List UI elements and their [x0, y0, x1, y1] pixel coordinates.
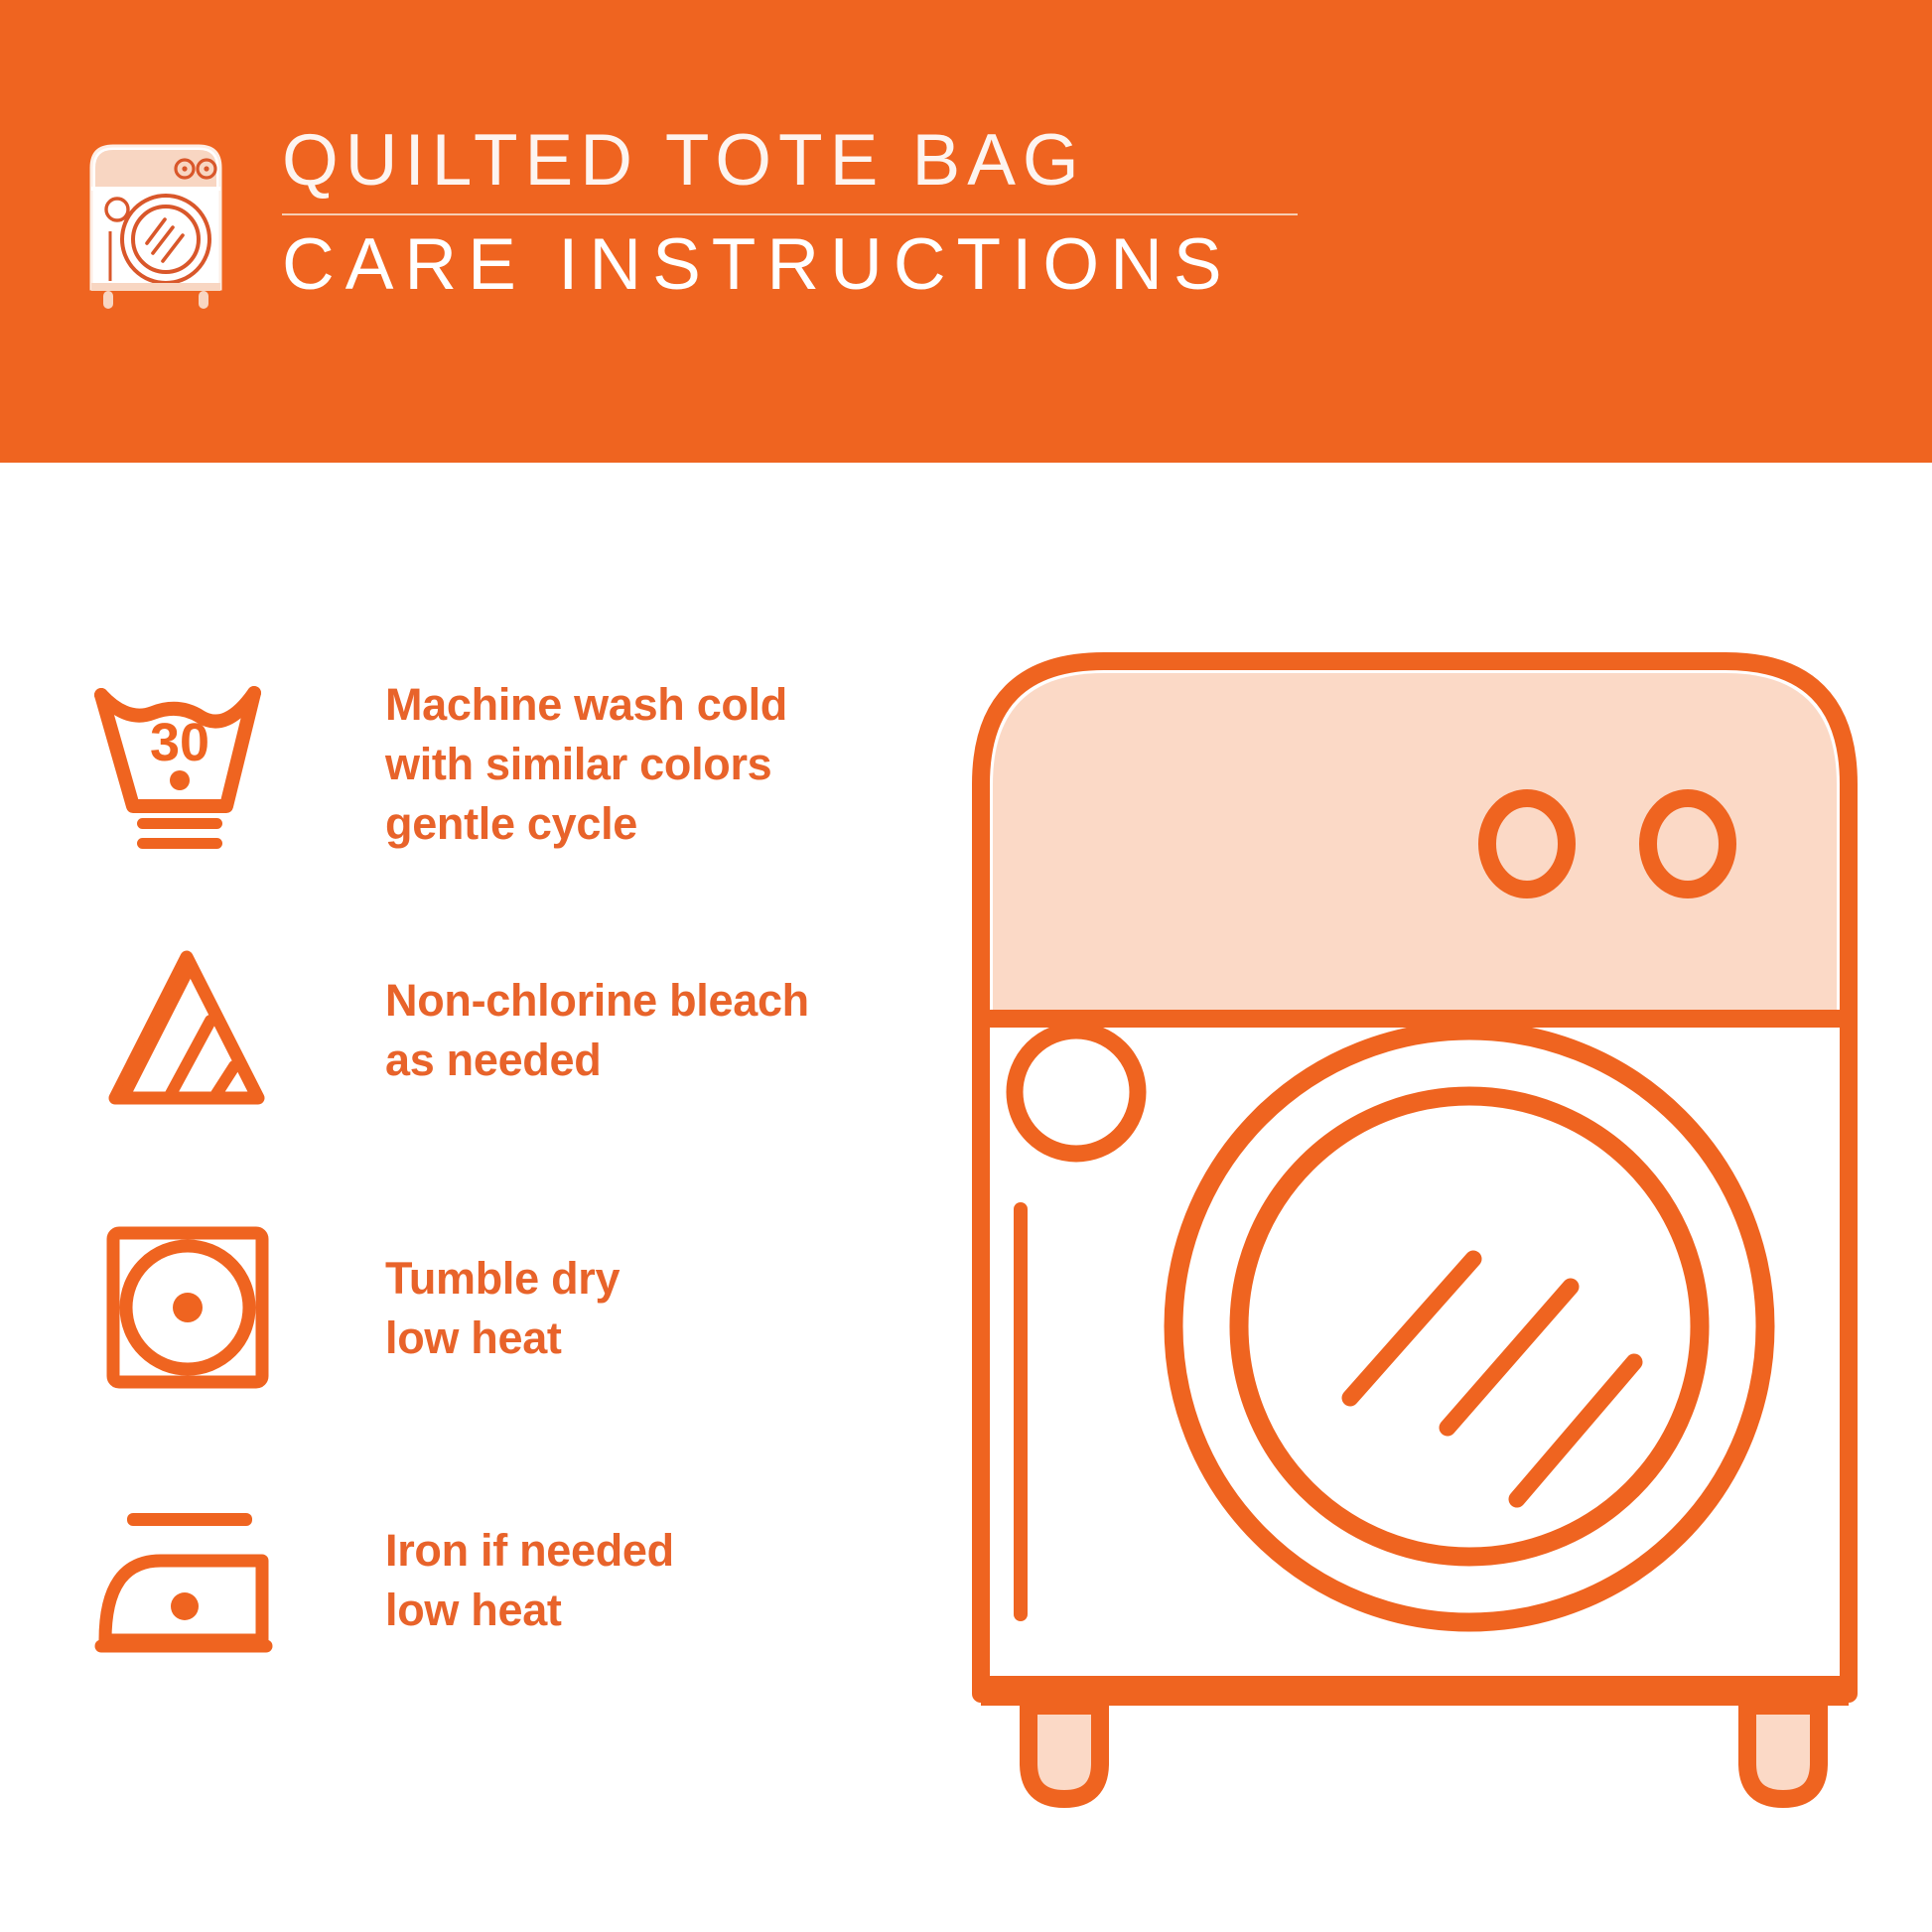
- label-line: Iron if needed: [385, 1521, 674, 1581]
- care-item-label-machine-wash: Machine wash cold with similar colors ge…: [385, 675, 787, 854]
- control-panel: [993, 673, 1837, 1011]
- header-text-block: QUILTED TOTE BAG CARE INSTRUCTIONS: [282, 123, 1305, 303]
- washing-machine-icon: [81, 132, 230, 311]
- care-instructions-page: QUILTED TOTE BAG CARE INSTRUCTIONS 30 Ma…: [0, 0, 1932, 1932]
- svg-text:30: 30: [150, 713, 209, 772]
- leg-left: [1029, 1706, 1100, 1799]
- iron-low-heat-icon: [87, 1495, 286, 1684]
- leg-right: [1747, 1706, 1819, 1799]
- label-line: with similar colors: [385, 735, 787, 794]
- label-line: low heat: [385, 1581, 674, 1640]
- title-divider: [282, 213, 1298, 215]
- care-item-label-iron: Iron if needed low heat: [385, 1521, 674, 1640]
- care-item-label-tumble-dry: Tumble dry low heat: [385, 1249, 620, 1368]
- care-item-bleach: Non-chlorine bleach as needed: [0, 923, 953, 1191]
- page-subtitle: CARE INSTRUCTIONS: [282, 227, 1305, 304]
- non-chlorine-bleach-triangle-icon: [87, 939, 286, 1128]
- wash-tub-30-gentle-icon: 30: [87, 679, 286, 868]
- label-line: gentle cycle: [385, 794, 787, 854]
- label-line: Non-chlorine bleach: [385, 971, 809, 1031]
- page-title: QUILTED TOTE BAG: [282, 123, 1305, 200]
- label-line: Machine wash cold: [385, 675, 787, 735]
- care-item-label-bleach: Non-chlorine bleach as needed: [385, 971, 809, 1090]
- care-item-iron: Iron if needed low heat: [0, 1459, 953, 1727]
- label-line: Tumble dry: [385, 1249, 620, 1309]
- care-item-machine-wash: 30 Machine wash cold with similar colors…: [0, 655, 953, 923]
- label-line: low heat: [385, 1309, 620, 1368]
- header-banner: QUILTED TOTE BAG CARE INSTRUCTIONS: [0, 0, 1932, 463]
- care-item-tumble-dry: Tumble dry low heat: [0, 1191, 953, 1459]
- label-line: as needed: [385, 1031, 809, 1090]
- base-rail: [981, 1676, 1849, 1706]
- care-instruction-list: 30 Machine wash cold with similar colors…: [0, 655, 953, 1727]
- large-washing-machine-illustration: [953, 625, 1876, 1857]
- tumble-dry-low-heat-icon: [87, 1217, 286, 1406]
